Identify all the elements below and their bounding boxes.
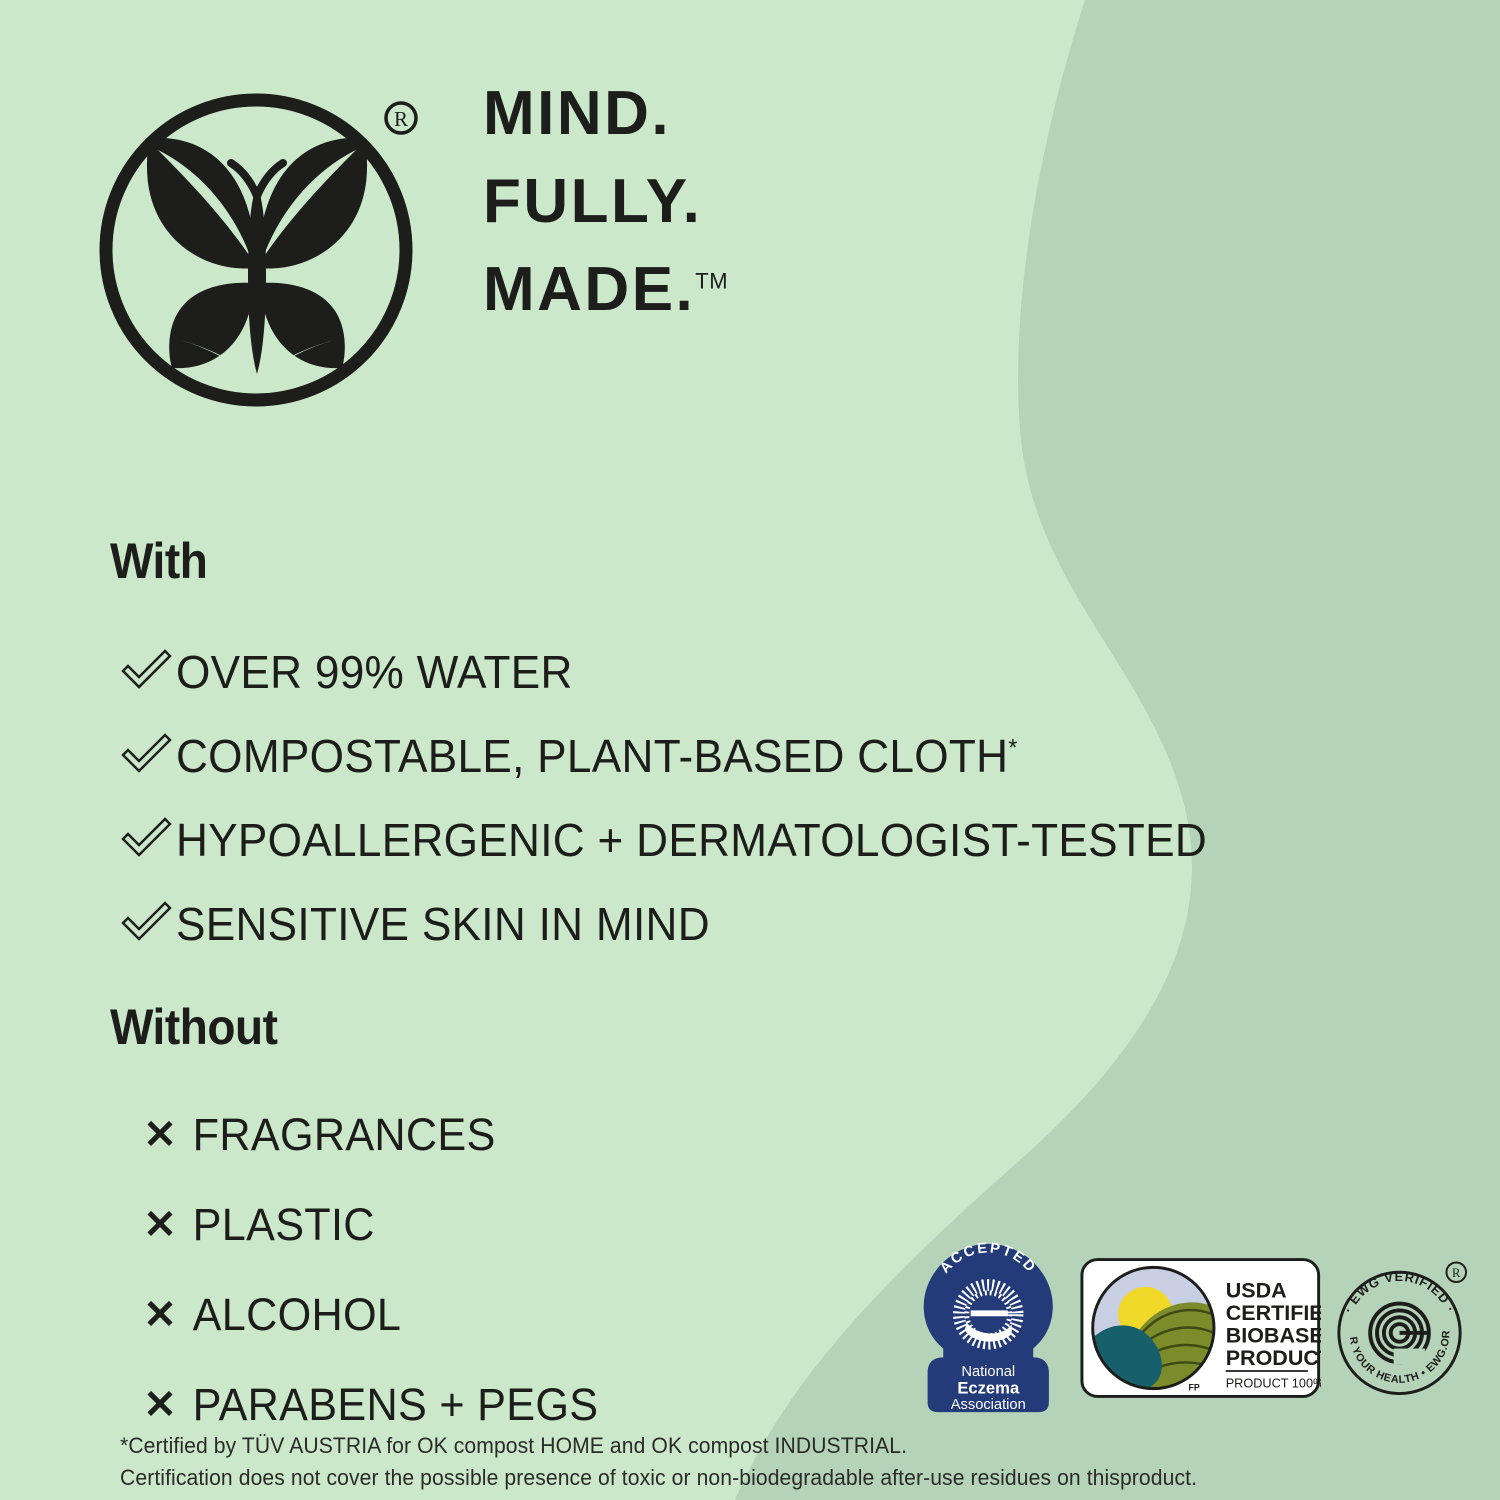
- nea-line-1: National: [961, 1364, 1015, 1380]
- cross-icon: ✕: [135, 1205, 185, 1245]
- nea-line-3: Association: [951, 1397, 1026, 1413]
- check-outline-icon: [118, 733, 176, 779]
- tagline-line-2: FULLY.: [483, 158, 863, 246]
- with-section-heading: With: [110, 532, 207, 590]
- trademark-symbol: TM: [695, 268, 728, 293]
- without-section-heading: Without: [110, 998, 278, 1056]
- list-item-label: OVER 99% WATER: [176, 645, 573, 699]
- usda-line-1: USDA: [1225, 1279, 1286, 1303]
- butterfly-in-circle-icon: R: [98, 78, 428, 418]
- with-feature-list: OVER 99% WATER COMPOSTABLE, PLANT-BASED …: [118, 630, 1250, 966]
- list-item: SENSITIVE SKIN IN MIND: [118, 882, 1250, 966]
- usda-biobased-icon: FP USDA CERTIFIED BIOBASED PRODUCT PRODU…: [1079, 1252, 1322, 1404]
- list-item-label: PARABENS + PEGS: [185, 1379, 598, 1431]
- footnote-marker: *: [1008, 735, 1017, 762]
- usda-line-4: PRODUCT: [1225, 1346, 1321, 1370]
- usda-subtext: PRODUCT 100%: [1225, 1376, 1321, 1391]
- nea-seal-icon: ACCEPTED National Eczema Association: [910, 1238, 1067, 1418]
- svg-text:R: R: [394, 107, 408, 131]
- tagline-line-1: MIND.: [483, 70, 863, 158]
- list-item-label: FRAGRANCES: [185, 1109, 496, 1161]
- footnote-line-1: *Certified by TÜV AUSTRIA for OK compost…: [120, 1430, 1291, 1462]
- tagline-line-3-wrapper: MADE.TM: [483, 246, 863, 334]
- check-outline-icon: [118, 649, 176, 695]
- list-item-label-wrapper: COMPOSTABLE, PLANT-BASED CLOTH*: [176, 729, 1018, 783]
- list-item-label: HYPOALLERGENIC + DERMATOLOGIST-TESTED: [176, 813, 1207, 867]
- check-outline-icon: [118, 817, 176, 863]
- list-item-label: COMPOSTABLE, PLANT-BASED CLOTH: [176, 730, 1008, 782]
- cross-icon: ✕: [135, 1385, 185, 1425]
- registered-trademark-icon: R: [386, 103, 416, 133]
- list-item: COMPOSTABLE, PLANT-BASED CLOTH*: [118, 714, 1250, 798]
- certification-badges: ACCEPTED National Eczema Association: [910, 1238, 1470, 1418]
- without-feature-list: ✕ FRAGRANCES ✕ PLASTIC ✕ ALCOHOL ✕ PARAB…: [135, 1090, 616, 1450]
- footnote-line-2: Certification does not cover the possibl…: [120, 1462, 1291, 1494]
- list-item: ✕ FRAGRANCES: [135, 1090, 616, 1180]
- cross-icon: ✕: [135, 1115, 185, 1155]
- cross-icon: ✕: [135, 1295, 185, 1335]
- registered-trademark-icon: R: [1447, 1262, 1467, 1282]
- list-item-label: PLASTIC: [185, 1199, 375, 1251]
- list-item: ✕ ALCOHOL: [135, 1270, 616, 1360]
- footnote: *Certified by TÜV AUSTRIA for OK compost…: [120, 1430, 1291, 1494]
- ewg-verified-icon: · EWG VERIFIED · · FOR YOUR HEALTH • EWG…: [1333, 1253, 1470, 1403]
- check-outline-icon: [118, 901, 176, 947]
- usda-line-2: CERTIFIED: [1225, 1301, 1321, 1325]
- list-item-label: ALCOHOL: [185, 1289, 401, 1341]
- list-item: HYPOALLERGENIC + DERMATOLOGIST-TESTED: [118, 798, 1250, 882]
- list-item-label: SENSITIVE SKIN IN MIND: [176, 897, 710, 951]
- ewg-top-arc-text: · EWG VERIFIED ·: [1340, 1269, 1458, 1315]
- nea-line-2: Eczema: [957, 1379, 1020, 1398]
- usda-line-3: BIOBASED: [1225, 1324, 1321, 1348]
- usda-corner-mark: FP: [1188, 1383, 1199, 1393]
- tagline-line-3: MADE.: [483, 255, 695, 324]
- product-claims-infographic: R MIND. FULLY. MADE.TM With: [0, 0, 1500, 1500]
- list-item: ✕ PLASTIC: [135, 1180, 616, 1270]
- svg-text:· EWG VERIFIED ·: · EWG VERIFIED ·: [1340, 1269, 1458, 1315]
- svg-text:R: R: [1452, 1266, 1461, 1280]
- list-item: OVER 99% WATER: [118, 630, 1250, 714]
- brand-tagline: MIND. FULLY. MADE.TM: [483, 70, 863, 334]
- brand-lockup: R MIND. FULLY. MADE.TM: [98, 70, 858, 420]
